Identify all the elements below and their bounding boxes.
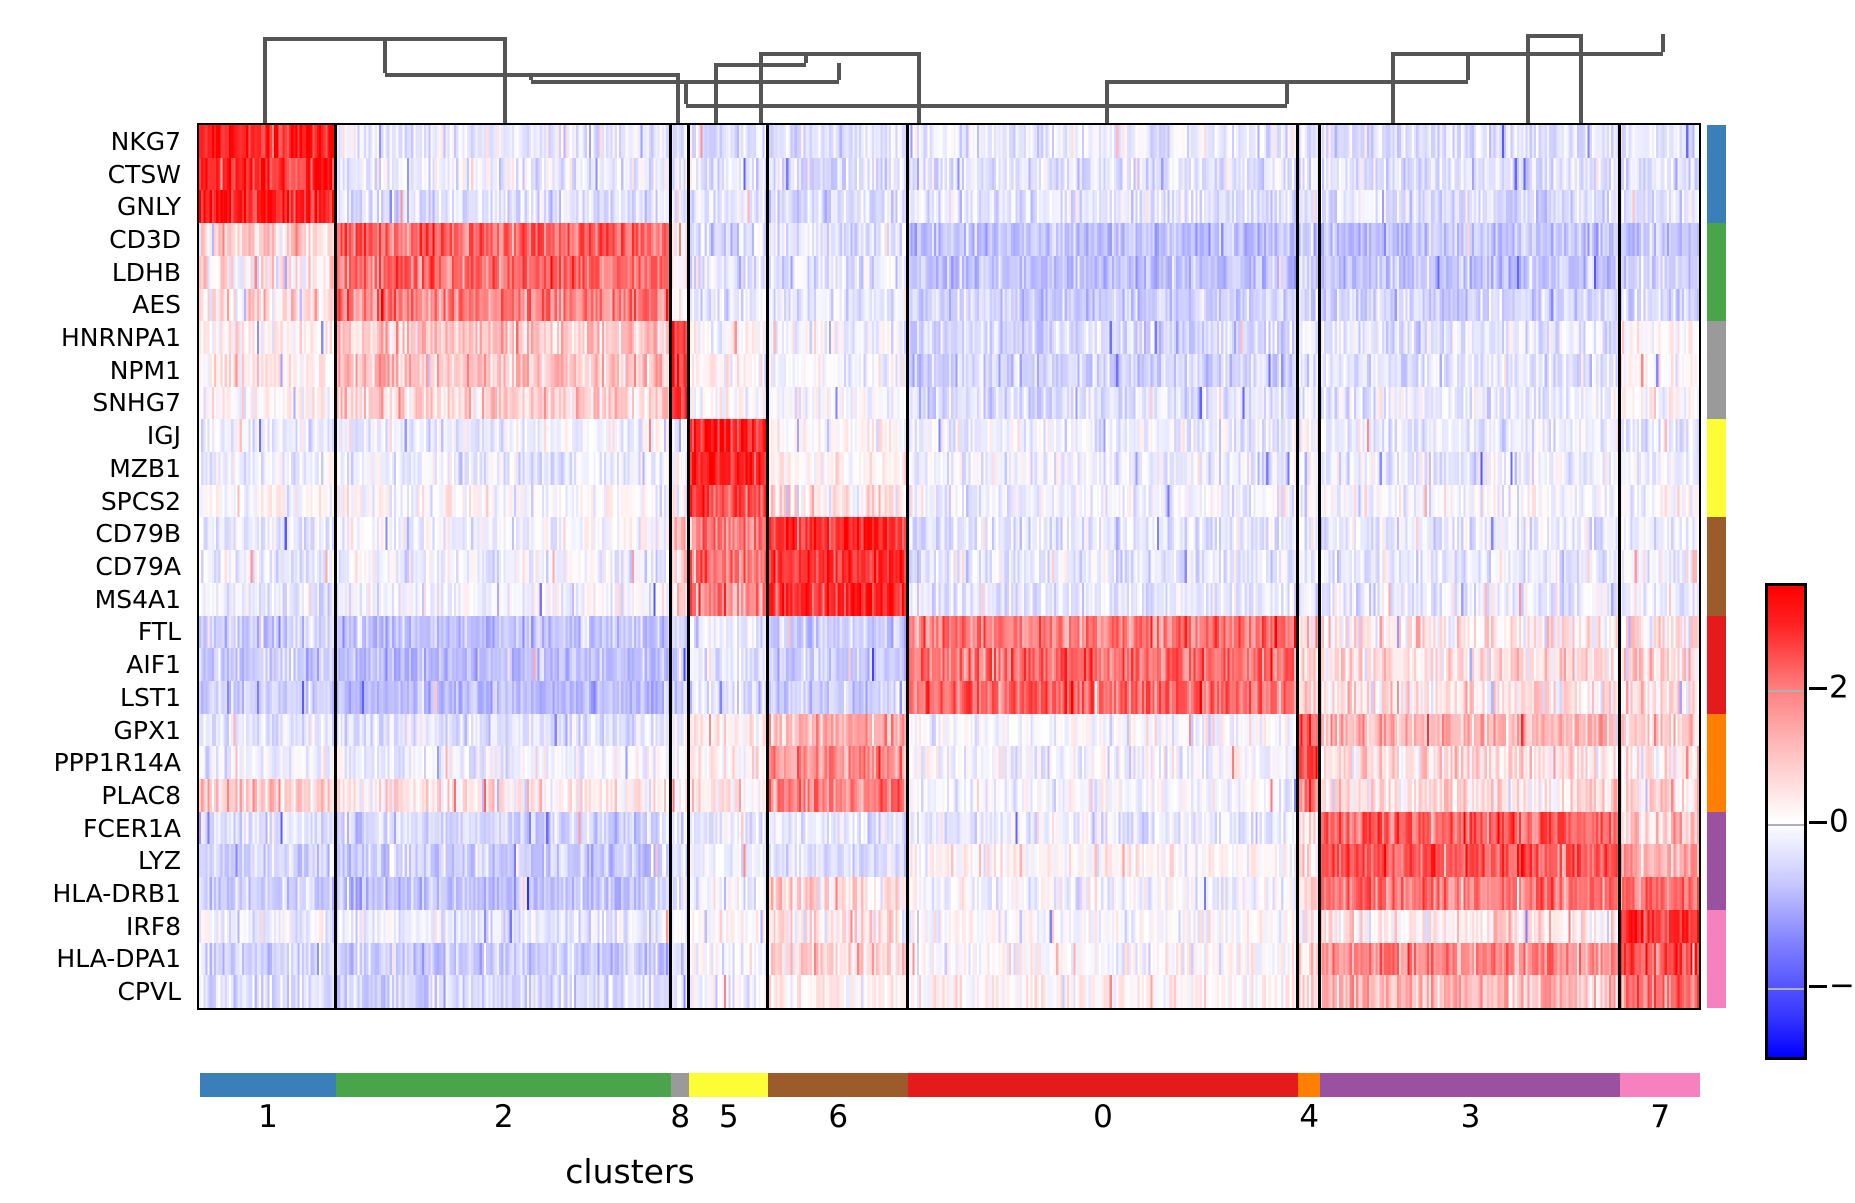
heatmap-row [199,943,1699,976]
colorbar-gridline [1768,824,1804,826]
cluster-swatch[interactable] [1620,1073,1700,1097]
dendrogram-link [804,52,808,63]
dendrogram-link [1285,80,1289,104]
dendrogram-link [1105,80,1109,126]
dendrogram-link [263,37,267,126]
gene-label-column: NKG7CTSWGNLYCD3DLDHBAESHNRNPA1NPM1SNHG7I… [0,125,190,1008]
gene-group-swatch [1707,321,1726,419]
heatmap-row [199,354,1699,387]
gene-group-swatch [1707,125,1726,223]
gene-label: GNLY [0,190,190,223]
heatmap-row [199,452,1699,485]
gene-group-swatch [1707,714,1726,812]
colorbar-tick-label: 2 [1829,672,1849,703]
expression-heatmap [197,123,1701,1010]
dendrogram-link [1466,52,1470,80]
cluster-tick-label: 6 [828,1102,848,1133]
gene-label: PPP1R14A [0,746,190,779]
cluster-separator [1318,125,1321,1008]
cluster-separator [1618,125,1621,1008]
cluster-tick-label: 3 [1461,1102,1481,1133]
cluster-tick-label: 7 [1650,1102,1670,1133]
cluster-tick-label: 5 [719,1102,739,1133]
colorbar-tickmark [1809,687,1827,690]
gene-group-swatch [1707,517,1726,615]
colorbar-gridline [1768,690,1804,692]
dendrogram-link [1661,34,1665,52]
heatmap-row [199,583,1699,616]
cluster-tick-labels: 128560437 [200,1102,1700,1144]
dendrogram-link [837,63,841,80]
heatmap-row [199,289,1699,322]
heatmap-row [199,616,1699,649]
colorbar-tick-label: −2 [1829,971,1855,1002]
cluster-swatch[interactable] [1320,1073,1620,1097]
dendrogram-link [529,73,533,80]
heatmap-row [199,844,1699,877]
x-axis-title: clusters [0,1152,1260,1191]
colorbar-tickmark [1809,821,1827,824]
gene-label: SPCS2 [0,485,190,518]
heatmap-row [199,321,1699,354]
cluster-swatch[interactable] [671,1073,689,1097]
gene-label: SNHG7 [0,387,190,420]
gene-label: AIF1 [0,648,190,681]
gene-label: IGJ [0,419,190,452]
gene-label: NKG7 [0,125,190,158]
dendrogram-link [1579,34,1583,125]
cluster-swatch[interactable] [1298,1073,1321,1097]
cluster-separator [669,125,672,1008]
gene-label: GPX1 [0,714,190,747]
heatmap-row [199,648,1699,681]
dendrogram-link [917,52,921,125]
gene-label: MZB1 [0,452,190,485]
dendrogram-link [686,104,1288,108]
gene-label: CPVL [0,975,190,1008]
gene-group-swatch [1707,616,1726,714]
gene-label: AES [0,289,190,322]
heatmap-row [199,256,1699,289]
heatmap-row [199,681,1699,714]
cluster-separator [687,125,690,1008]
cluster-tick-label: 8 [670,1102,690,1133]
dendrogram-link [383,37,387,73]
gene-group-color-strip [1707,125,1726,1008]
gene-group-swatch [1707,223,1726,321]
cluster-tick-label: 4 [1299,1102,1319,1133]
gene-group-swatch [1707,812,1726,910]
dendrogram-link [684,80,688,104]
dendrogram-link [503,37,507,126]
cluster-separator [766,125,769,1008]
gene-label: CD3D [0,223,190,256]
gene-label: HNRNPA1 [0,321,190,354]
cluster-swatch[interactable] [908,1073,1298,1097]
gene-label: CD79B [0,517,190,550]
cluster-swatch[interactable] [336,1073,671,1097]
gene-label: MS4A1 [0,583,190,616]
dendrogram-link [1526,34,1530,125]
heatmap-row [199,387,1699,420]
dendrogram-link [1391,52,1395,125]
gene-label: LST1 [0,681,190,714]
dendrogram-link [1528,34,1581,38]
colorbar [1765,583,1807,1060]
cluster-dendrogram [0,0,1855,120]
dendrogram-link [676,73,680,126]
cluster-separator [334,125,337,1008]
gene-group-swatch [1707,419,1726,517]
heatmap-row [199,975,1699,1008]
dendrogram-link [714,63,718,125]
heatmap-rows [199,125,1699,1008]
heatmap-row [199,779,1699,812]
heatmap-row [199,485,1699,518]
gene-label: FTL [0,616,190,649]
heatmap-row [199,419,1699,452]
heatmap-row [199,746,1699,779]
gene-group-swatch [1707,910,1726,1008]
heatmap-row [199,714,1699,747]
gene-label: FCER1A [0,812,190,845]
gene-label: HLA-DRB1 [0,877,190,910]
colorbar-gridline [1768,988,1804,990]
gene-label: LDHB [0,256,190,289]
gene-label: IRF8 [0,910,190,943]
gene-label: CTSW [0,158,190,191]
cluster-color-strip [200,1073,1700,1097]
cluster-tick-label: 0 [1093,1102,1113,1133]
heatmap-row [199,550,1699,583]
heatmap-row [199,877,1699,910]
gene-label: HLA-DPA1 [0,943,190,976]
heatmap-row [199,910,1699,943]
cluster-swatch[interactable] [689,1073,768,1097]
cluster-swatch[interactable] [200,1073,336,1097]
cluster-tick-label: 2 [494,1102,514,1133]
heatmap-row [199,517,1699,550]
cluster-separator [1296,125,1299,1008]
gene-label: CD79A [0,550,190,583]
dendrogram-link [761,52,919,56]
heatmap-row [199,812,1699,845]
heatmap-row [199,190,1699,223]
heatmap-row [199,125,1699,158]
gene-label: LYZ [0,844,190,877]
gene-label: PLAC8 [0,779,190,812]
cluster-swatch[interactable] [768,1073,908,1097]
dendrogram-link [759,52,763,125]
colorbar-tickmark [1809,985,1827,988]
colorbar-tick-label: 0 [1829,806,1849,837]
cluster-separator [906,125,909,1008]
heatmap-row [199,158,1699,191]
cluster-tick-label: 1 [258,1102,278,1133]
gene-label: NPM1 [0,354,190,387]
heatmap-row [199,223,1699,256]
